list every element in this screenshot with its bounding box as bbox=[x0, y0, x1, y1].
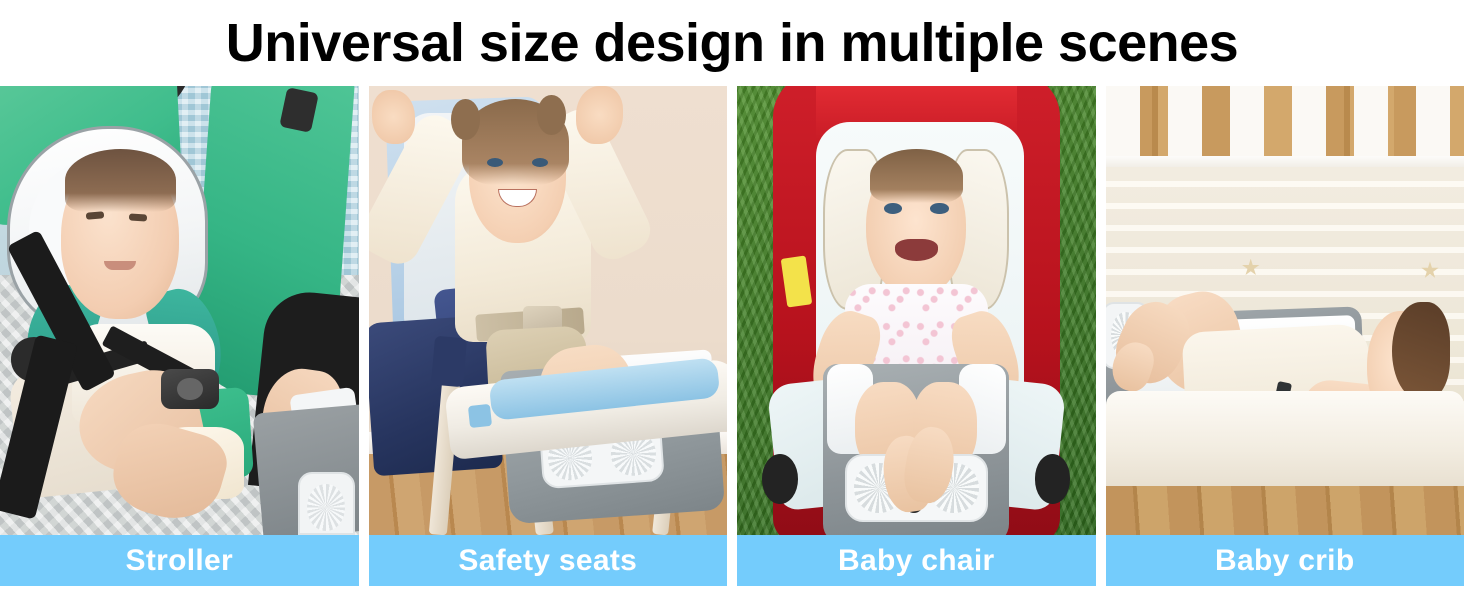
poster-root: Universal size design in multiple scenes bbox=[0, 0, 1464, 600]
stroller-wheel-right bbox=[1035, 454, 1071, 503]
baby-hair bbox=[870, 149, 963, 203]
cooling-fan-unit bbox=[298, 472, 355, 535]
stroller-wheel-left bbox=[762, 454, 798, 503]
mattress-front-edge bbox=[1106, 391, 1464, 490]
photo-car-seat bbox=[737, 86, 1096, 535]
photo-crib bbox=[1106, 86, 1464, 535]
toddler-hair-bun-right bbox=[537, 95, 566, 135]
star-motif bbox=[1421, 261, 1439, 279]
caption-baby-chair: Baby chair bbox=[737, 535, 1096, 586]
baby-eye-left bbox=[86, 211, 104, 220]
high-chair-tray-clip bbox=[468, 404, 492, 429]
scene-panel-stroller[interactable]: Stroller bbox=[0, 86, 359, 586]
toddler-hair-bun-left bbox=[451, 99, 480, 139]
toddler-eyes bbox=[487, 158, 548, 167]
crib-slats bbox=[1106, 86, 1464, 162]
scene-panel-grid: Stroller bbox=[0, 86, 1464, 586]
scene-panel-baby-chair[interactable]: Baby chair bbox=[737, 86, 1096, 586]
toddler-hand-left bbox=[372, 90, 415, 144]
baby-eyes bbox=[884, 203, 949, 214]
star-motif bbox=[1242, 259, 1260, 277]
baby-hair bbox=[65, 149, 176, 212]
high-chair-leg-cuff bbox=[431, 336, 467, 388]
page-title: Universal size design in multiple scenes bbox=[0, 0, 1464, 86]
harness-buckle bbox=[161, 369, 218, 409]
caption-stroller: Stroller bbox=[0, 535, 359, 586]
baby-eye-right bbox=[129, 213, 147, 221]
wood-floor bbox=[1106, 486, 1464, 535]
photo-stroller bbox=[0, 86, 359, 535]
baby-open-mouth bbox=[895, 239, 938, 261]
baby-hair bbox=[1392, 302, 1449, 401]
caption-safety-seats: Safety seats bbox=[369, 535, 728, 586]
baby-mouth bbox=[104, 261, 136, 270]
photo-high-chair bbox=[369, 86, 728, 535]
caption-baby-crib: Baby crib bbox=[1106, 535, 1464, 586]
toddler-hand-right bbox=[576, 86, 623, 144]
scene-panel-baby-crib[interactable]: Baby crib bbox=[1106, 86, 1464, 586]
scene-panel-safety-seats[interactable]: Safety seats bbox=[369, 86, 728, 586]
